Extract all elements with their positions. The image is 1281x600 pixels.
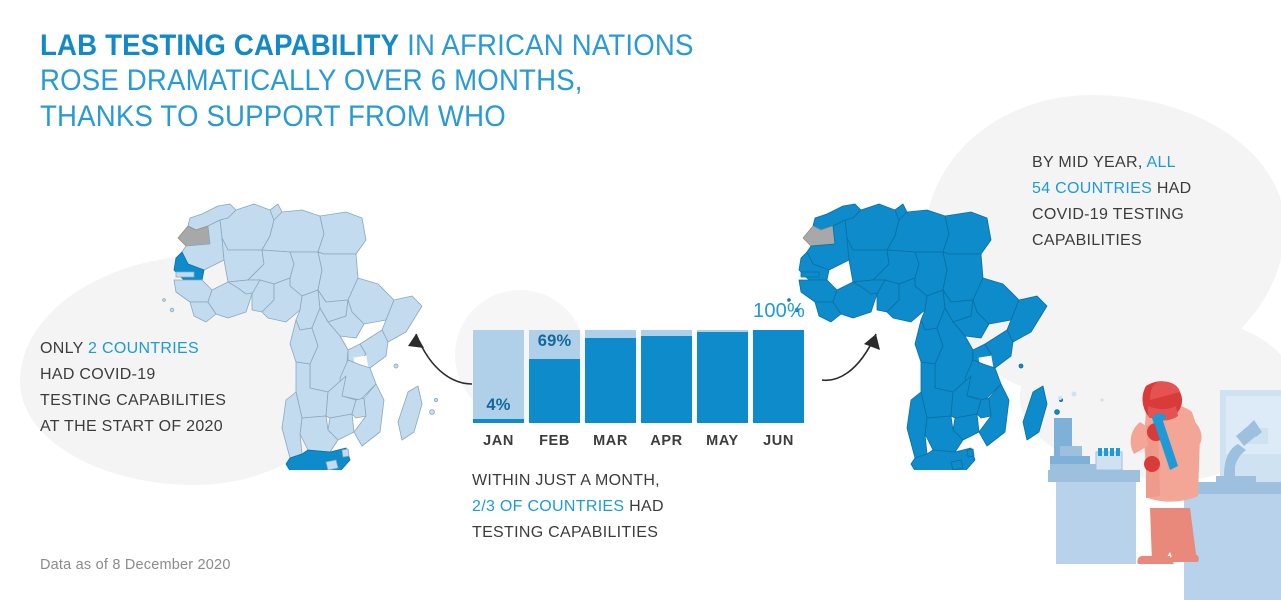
caption-center-line-1: WITHIN JUST A MONTH, [472,468,664,494]
caption-left-highlight: 2 COUNTRIES [88,340,199,357]
lab-bench-left [1048,470,1140,564]
title-emphasis: LAB TESTING CAPABILITY [40,29,399,62]
bar-track-may [697,330,748,423]
chart-x-axis-labels: JAN FEB MAR APR MAY JUN [473,433,804,449]
monthly-testing-capability-chart: 4% 69% [473,330,804,449]
caption-left-line-1-pre: ONLY [40,340,88,357]
caption-right-highlight-54: 54 COUNTRIES [1032,180,1152,197]
caption-right-line-2-post: HAD [1152,180,1191,197]
caption-right-line-2: 54 COUNTRIES HAD [1032,176,1192,202]
bar-column-feb: 69% [529,330,580,423]
caption-left-line-2: HAD COVID-19 [40,362,226,388]
bar-value-feb: 69% [529,332,580,351]
lab-technician-illustration [1020,378,1281,600]
caption-center-line-3: TESTING CAPABILITIES [472,520,664,546]
caption-right-highlight-all: ALL [1146,154,1175,171]
caption-left-line-4: AT THE START OF 2020 [40,414,226,440]
bar-column-may [697,330,748,423]
title-line-2: ROSE DRAMATICALLY OVER 6 MONTHS, [40,63,694,98]
title-line-1-rest: IN AFRICAN NATIONS [399,29,693,62]
page-title: LAB TESTING CAPABILITY IN AFRICAN NATION… [40,28,750,134]
chart-bars: 4% 69% [473,330,804,423]
bar-fill-may [697,332,748,423]
x-label-jan: JAN [473,433,524,449]
data-source-note: Data as of 8 December 2020 [40,557,231,573]
test-tube-rack [1096,448,1122,470]
lab-analyzer [1050,418,1098,470]
bar-column-mar [585,330,636,423]
caption-center-line-2: 2/3 OF COUNTRIES HAD [472,494,664,520]
title-line-3: THANKS TO SUPPORT FROM WHO [40,99,694,134]
bar-fill-mar [585,338,636,423]
bar-track-feb: 69% [529,330,580,423]
caption-mid-year: BY MID YEAR, ALL 54 COUNTRIES HAD COVID-… [1032,150,1192,254]
caption-right-line-3: COVID-19 TESTING [1032,202,1192,228]
caption-right-line-1-pre: BY MID YEAR, [1032,154,1146,171]
bar-fill-apr [641,336,692,423]
caption-right-line-1: BY MID YEAR, ALL [1032,150,1192,176]
caption-start-of-2020: ONLY 2 COUNTRIES HAD COVID-19 TESTING CA… [40,336,226,440]
x-label-jun: JUN [753,433,804,449]
bar-value-jan: 4% [473,396,524,415]
curved-arrow-right [818,320,898,395]
x-label-feb: FEB [529,433,580,449]
caption-right-line-4: CAPABILITIES [1032,228,1192,254]
bar-fill-feb [529,359,580,423]
bar-column-jan: 4% [473,330,524,423]
curved-arrow-left [398,322,478,397]
caption-center-highlight: 2/3 OF COUNTRIES [472,498,624,515]
caption-within-a-month: WITHIN JUST A MONTH, 2/3 OF COUNTRIES HA… [472,468,664,546]
x-label-may: MAY [697,433,748,449]
bar-column-jun: 100% [753,330,804,423]
title-line-1: LAB TESTING CAPABILITY IN AFRICAN NATION… [40,28,694,63]
caption-center-line-2-post: HAD [624,498,663,515]
bar-track-mar [585,330,636,423]
decorative-dots [1058,392,1104,402]
bar-track-jan: 4% [473,330,524,423]
x-label-apr: APR [641,433,692,449]
bar-fill-jun [753,330,804,423]
technician [1131,381,1202,564]
caption-left-line-3: TESTING CAPABILITIES [40,388,226,414]
bar-fill-jan [473,419,524,423]
infographic-page: LAB TESTING CAPABILITY IN AFRICAN NATION… [0,0,1281,600]
bar-track-jun: 100% [753,330,804,423]
bar-column-apr [641,330,692,423]
x-label-mar: MAR [585,433,636,449]
bar-value-jun: 100% [753,300,804,323]
bar-track-apr [641,330,692,423]
caption-left-line-1: ONLY 2 COUNTRIES [40,336,226,362]
